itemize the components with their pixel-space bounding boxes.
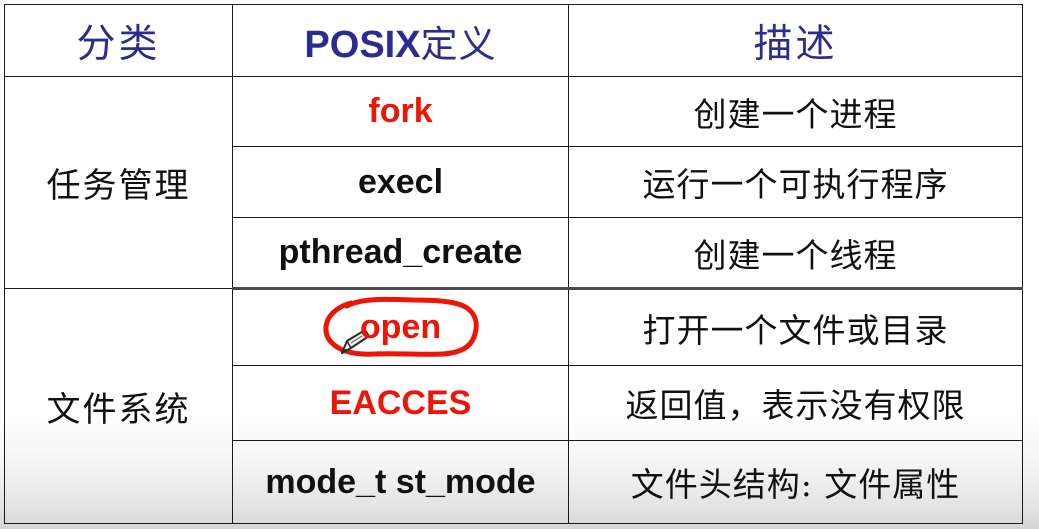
column-header-category: 分类 bbox=[5, 5, 233, 77]
api-label: open bbox=[360, 308, 441, 346]
api-cell-eacces: EACCES bbox=[233, 366, 569, 441]
api-label: execl bbox=[358, 163, 443, 201]
column-header-description-label: 描述 bbox=[753, 22, 837, 67]
column-header-posix-latin: POSIX bbox=[304, 24, 420, 66]
api-label: fork bbox=[368, 92, 432, 130]
table-row: 任务管理 fork 创建一个进程 bbox=[5, 77, 1023, 147]
api-label: EACCES bbox=[330, 384, 472, 422]
column-header-category-label: 分类 bbox=[76, 22, 160, 67]
column-header-posix-cjk: 定义 bbox=[421, 23, 497, 66]
api-cell-fork: fork bbox=[233, 77, 569, 147]
table-header-row: 分类 POSIX定义 描述 bbox=[5, 5, 1023, 77]
description-cell-mode-t-st-mode: 文件头结构: 文件属性 bbox=[569, 441, 1023, 524]
description-cell-eacces: 返回值，表示没有权限 bbox=[569, 366, 1023, 441]
description-cell-execl: 运行一个可执行程序 bbox=[569, 147, 1023, 218]
page-root: 分类 POSIX定义 描述 任务管理 fork 创建一个进程 bbox=[0, 0, 1039, 529]
description-cell-pthread-create: 创建一个线程 bbox=[569, 218, 1023, 289]
category-cell-file-system: 文件系统 bbox=[5, 289, 233, 524]
api-cell-open: open bbox=[233, 289, 569, 366]
api-cell-mode-t-st-mode: mode_t st_mode bbox=[233, 441, 569, 524]
column-header-description: 描述 bbox=[569, 5, 1023, 77]
category-cell-task-management: 任务管理 bbox=[5, 77, 233, 289]
description-cell-fork: 创建一个进程 bbox=[569, 77, 1023, 147]
api-cell-execl: execl bbox=[233, 147, 569, 218]
api-cell-pthread-create: pthread_create bbox=[233, 218, 569, 289]
table-row: 文件系统 open bbox=[5, 289, 1023, 366]
api-label: mode_t st_mode bbox=[265, 463, 535, 501]
api-label: pthread_create bbox=[279, 233, 523, 271]
description-cell-open: 打开一个文件或目录 bbox=[569, 289, 1023, 366]
column-header-posix: POSIX定义 bbox=[233, 5, 569, 77]
posix-syscall-table: 分类 POSIX定义 描述 任务管理 fork 创建一个进程 bbox=[4, 4, 1023, 524]
